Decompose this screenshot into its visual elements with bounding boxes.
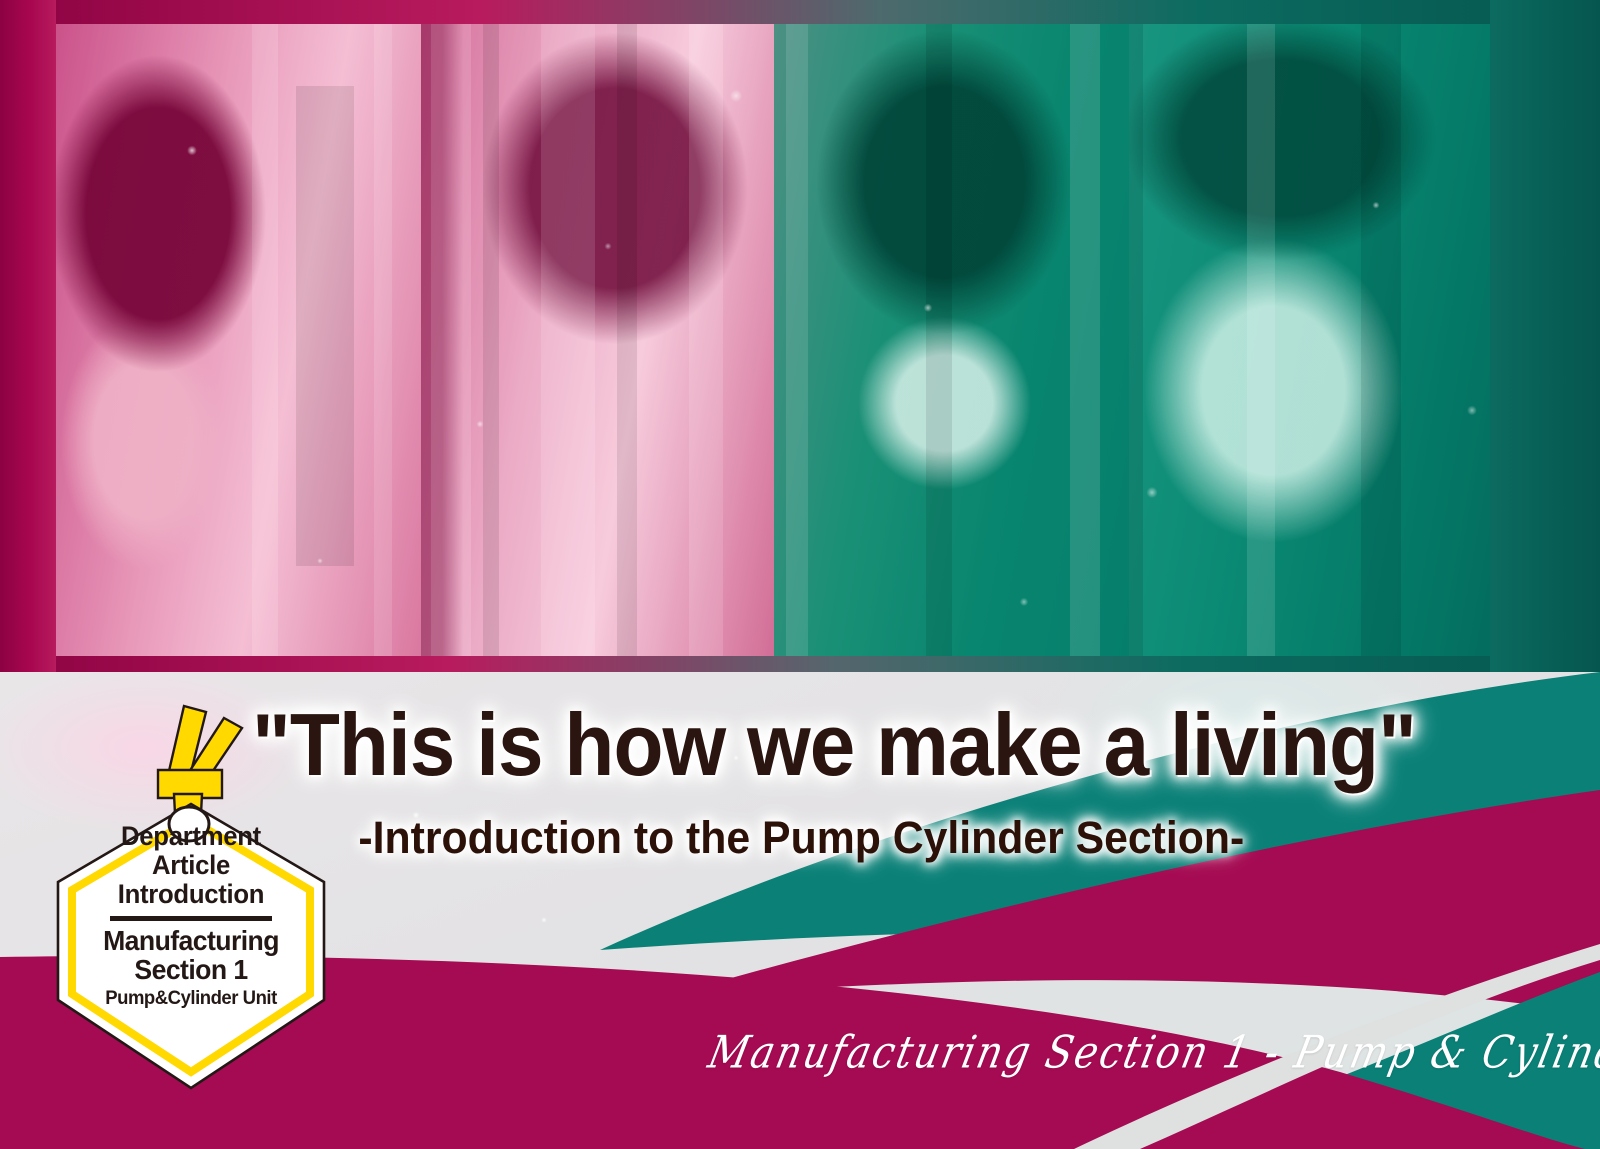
machine-bar: [252, 24, 278, 656]
frame-left-edge: [0, 0, 56, 684]
machine-bar: [1129, 24, 1143, 656]
badge-line-1: Department: [50, 822, 331, 851]
machine-bar: [617, 24, 637, 656]
machine-bar: [296, 86, 354, 566]
machine-bar: [374, 24, 392, 656]
badge-line-6: Pump&Cylinder Unit: [53, 988, 329, 1009]
photo-worker-spray-cleaning: [774, 24, 1129, 656]
machine-bar: [1070, 24, 1100, 656]
photo-3-machinery-bars: [774, 24, 1129, 656]
poster-root: "This is how we make a living" -Introduc…: [0, 0, 1600, 1149]
sub-title: -Introduction to the Pump Cylinder Secti…: [252, 812, 1316, 864]
badge-line-2: Article: [50, 851, 331, 880]
photo-worker-vise-assembly: [1129, 24, 1490, 656]
frame-top-edge: [0, 0, 1600, 24]
machine-bar: [786, 24, 808, 656]
badge-text-block: Department Article Introduction Manufact…: [46, 822, 336, 1009]
photo-strip: [56, 24, 1490, 656]
machine-bar: [541, 24, 595, 656]
machine-bar: [1247, 24, 1275, 656]
photo-4-machinery-bars: [1129, 24, 1490, 656]
machine-bar: [431, 24, 471, 656]
main-title: "This is how we make a living": [252, 700, 1294, 790]
machine-bar: [1361, 24, 1401, 656]
title-block: "This is how we make a living" -Introduc…: [252, 700, 1372, 864]
photo-worker-cylinder-columns: [421, 24, 774, 656]
badge-line-3: Introduction: [50, 880, 331, 909]
photo-1-machinery-bars: [56, 24, 421, 656]
badge-line-4: Manufacturing: [53, 927, 329, 956]
department-badge[interactable]: Department Article Introduction Manufact…: [46, 700, 336, 1100]
machine-bar: [689, 24, 723, 656]
photo-band: [0, 0, 1600, 684]
photo-2-machinery-bars: [421, 24, 774, 656]
frame-right-edge: [1490, 0, 1600, 684]
machine-bar: [926, 24, 952, 656]
badge-divider: [110, 916, 272, 921]
machine-bar: [483, 24, 499, 656]
badge-line-5: Section 1: [53, 956, 329, 985]
signature-text: Manufacturing Section 1 - Pump & Cylinde…: [704, 1026, 1600, 1078]
photo-worker-control-panel: [56, 24, 421, 656]
